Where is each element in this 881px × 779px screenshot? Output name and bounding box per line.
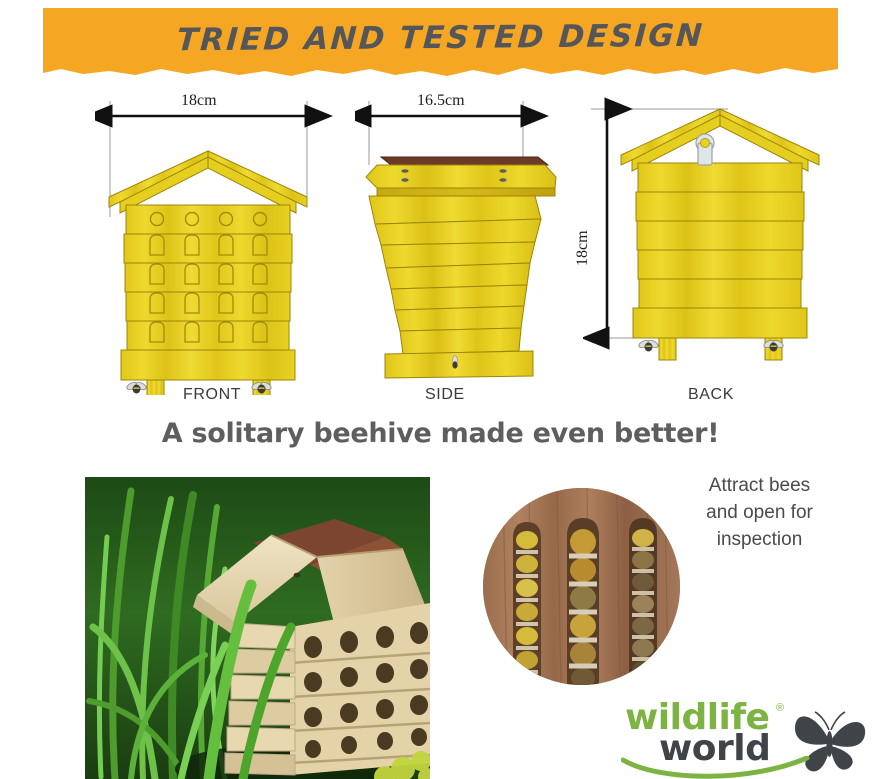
view-label-front: FRONT (183, 386, 241, 404)
bee-icon (638, 339, 660, 352)
product-infographic: TRIED AND TESTED DESIGN (0, 0, 881, 779)
technical-drawings: 18cm FRONT (0, 86, 881, 406)
page-title: TRIED AND TESTED DESIGN (41, 5, 840, 72)
view-label-back: BACK (688, 386, 734, 404)
tagline: A solitary beehive made even better! (0, 418, 881, 449)
caption-line-1: Attract bees (652, 473, 867, 500)
side-dimension-label: 16.5cm (417, 92, 465, 110)
inset-closeup-illustration (483, 488, 680, 685)
bee-icon (126, 381, 148, 394)
front-dimension-label: 18cm (181, 92, 217, 110)
header-banner: TRIED AND TESTED DESIGN (43, 8, 838, 76)
brand-logo: wildlife ® world (625, 700, 881, 772)
front-view-drawing (95, 95, 355, 395)
view-label-side: SIDE (425, 386, 465, 404)
product-photo (85, 477, 430, 779)
bee-icon (452, 356, 457, 369)
caption-line-2: and open for (652, 500, 867, 527)
caption-line-3: inspection (652, 527, 867, 554)
back-dimension-label: 18cm (574, 230, 592, 266)
registered-trademark-icon: ® (776, 702, 784, 714)
logo-swoosh-icon (621, 756, 811, 779)
side-view-drawing (355, 95, 595, 395)
photo-caption: Attract bees and open for inspection (652, 473, 867, 554)
back-view-drawing (583, 95, 838, 395)
keyhole-hanger-icon (696, 134, 714, 165)
product-photo-illustration (85, 477, 430, 779)
